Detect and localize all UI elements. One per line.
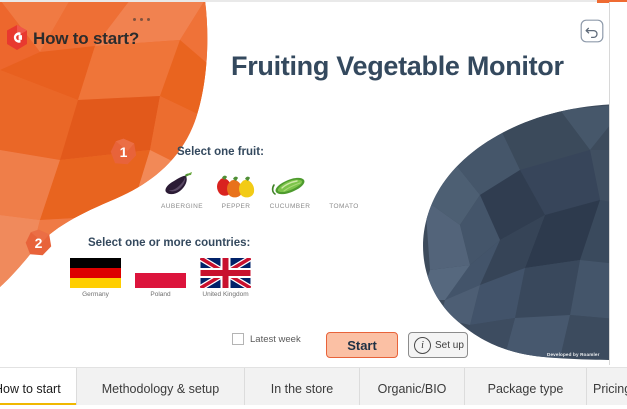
right-edge-rail	[609, 2, 627, 365]
latest-week-checkbox-row[interactable]: Latest week	[232, 333, 301, 345]
step-1-label: Select one fruit:	[177, 146, 264, 158]
info-icon: i	[414, 337, 431, 354]
page-title: Fruiting Vegetable Monitor	[231, 51, 564, 82]
fruit-option-pepper[interactable]: PEPPER	[209, 171, 263, 210]
pepper-icon	[212, 171, 260, 199]
aubergine-icon	[158, 171, 206, 199]
flag-united-kingdom-icon	[200, 258, 251, 288]
country-label: Germany	[82, 291, 109, 298]
tab-how-to-start[interactable]: How to start	[0, 368, 77, 409]
fruit-label: PEPPER	[222, 203, 251, 210]
step-1-badge: 1	[110, 138, 137, 165]
tab-organic-bio[interactable]: Organic/BIO	[360, 368, 465, 409]
panel-title: How to start?	[33, 29, 139, 49]
dashboard-page: How to start? Fruiting Vegetable Monitor…	[0, 0, 627, 409]
step-1: 1 Select one fruit:	[110, 138, 264, 165]
flag-poland-icon	[135, 258, 186, 288]
step-2: 2 Select one or more countries:	[25, 229, 250, 256]
roamler-hex-logo-icon	[6, 25, 28, 50]
flag-germany-icon	[70, 258, 121, 288]
country-option-germany[interactable]: Germany	[70, 258, 121, 298]
fruit-selector: AUBERGINE PEPPER	[155, 171, 371, 210]
fruit-label: AUBERGINE	[161, 203, 203, 210]
latest-week-label: Latest week	[250, 334, 301, 345]
more-options-icon[interactable]	[133, 18, 150, 21]
fruit-label: TOMATO	[329, 203, 359, 210]
country-option-united-kingdom[interactable]: United Kingdom	[200, 258, 251, 298]
step-2-badge: 2	[25, 229, 52, 256]
fruit-option-tomato[interactable]: TOMATO	[317, 171, 371, 210]
tab-bar: How to start Methodology & setup In the …	[0, 367, 627, 409]
start-button[interactable]: Start	[326, 332, 398, 358]
country-label: Poland	[150, 291, 170, 298]
cucumber-icon	[266, 171, 314, 199]
tab-bar-bottom-strip	[0, 405, 627, 409]
country-selector: Germany Poland United Kingdom	[70, 258, 251, 298]
fruit-option-cucumber[interactable]: CUCUMBER	[263, 171, 317, 210]
back-button[interactable]	[579, 18, 605, 44]
tomato-icon	[320, 171, 368, 199]
setup-button-label: Set up	[435, 340, 464, 351]
step-2-number: 2	[25, 229, 52, 256]
setup-button[interactable]: i Set up	[408, 332, 468, 358]
fruit-option-aubergine[interactable]: AUBERGINE	[155, 171, 209, 210]
latest-week-checkbox[interactable]	[232, 333, 244, 345]
country-label: United Kingdom	[202, 291, 248, 298]
tab-methodology-setup[interactable]: Methodology & setup	[77, 368, 245, 409]
step-2-label: Select one or more countries:	[88, 237, 250, 249]
back-arrow-icon	[580, 19, 604, 43]
tab-in-the-store[interactable]: In the store	[245, 368, 360, 409]
step-1-number: 1	[110, 138, 137, 165]
slate-blob	[420, 100, 627, 365]
tab-pricing[interactable]: Pricing	[587, 368, 627, 409]
fruit-label: CUCUMBER	[270, 203, 311, 210]
tab-package-type[interactable]: Package type	[465, 368, 587, 409]
top-edge-gap	[0, 0, 597, 2]
country-option-poland[interactable]: Poland	[135, 258, 186, 298]
developer-credit: Developed by Roamler	[547, 352, 600, 357]
